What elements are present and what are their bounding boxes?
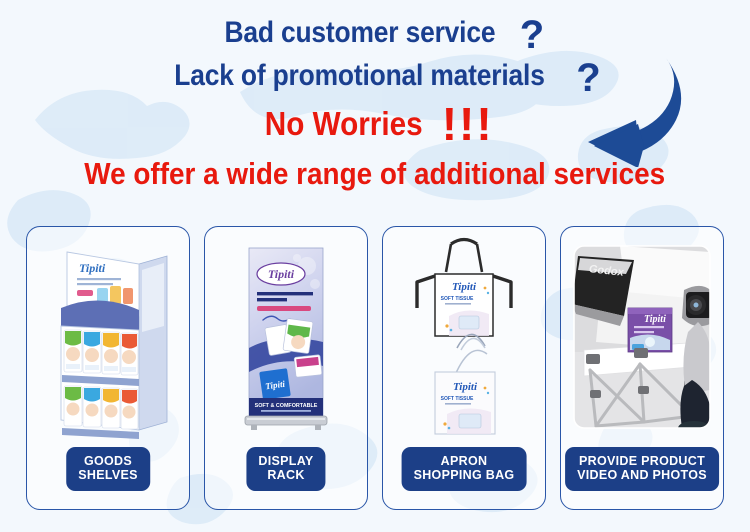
card-label-line-1: PROVIDE PRODUCT <box>577 454 707 469</box>
card-label-line-2: SHOPPING BAG <box>414 468 515 483</box>
svg-text:Tipiti: Tipiti <box>644 314 666 325</box>
card-label-line-1: APRON <box>414 454 515 469</box>
card-label-provide-product-video-and-photos: PROVIDE PRODUCT VIDEO AND PHOTOS <box>565 447 719 492</box>
card-label-goods-shelves: GOODS SHELVES <box>66 447 150 492</box>
headline-line-3: No Worries <box>265 106 423 142</box>
headline-line-4-row: We offer a wide range of additional serv… <box>0 150 750 190</box>
card-apron-shopping-bag[interactable]: Tipiti SOFT TISSUE Tipiti S <box>382 226 546 510</box>
headline-line-3-row: No Worries!!! <box>0 100 750 150</box>
photo-studio-artwork: Godox Tipiti <box>561 227 723 445</box>
svg-text:Tipiti: Tipiti <box>453 381 478 393</box>
promotional-banner: Bad customer service? Lack of promotiona… <box>0 0 750 532</box>
goods-shelves-artwork: Tipiti <box>27 227 189 445</box>
card-display-rack[interactable]: Tipiti <box>204 226 368 510</box>
question-mark-2: ? <box>576 57 600 100</box>
headline-line-2: Lack of promotional materials <box>175 60 545 92</box>
card-label-line-1: DISPLAY <box>258 454 313 469</box>
exclamation-marks: !!! <box>442 100 494 150</box>
card-goods-shelves[interactable]: Tipiti <box>26 226 190 510</box>
card-label-line-2: RACK <box>258 468 313 483</box>
service-cards-row: Tipiti <box>0 226 750 516</box>
svg-text:Tipiti: Tipiti <box>452 281 477 293</box>
question-mark-1: ? <box>520 14 544 57</box>
card-label-line-2: SHELVES <box>78 468 138 483</box>
display-rack-artwork: Tipiti <box>205 227 367 445</box>
headline-block: Bad customer service? Lack of promotiona… <box>0 0 750 191</box>
svg-text:Tipiti: Tipiti <box>268 267 295 281</box>
card-label-apron-shopping-bag: APRON SHOPPING BAG <box>402 447 527 492</box>
card-label-display-rack: DISPLAY RACK <box>246 447 325 492</box>
headline-line-1-row: Bad customer service? <box>0 14 750 57</box>
card-label-line-2: VIDEO AND PHOTOS <box>577 468 707 483</box>
headline-line-1: Bad customer service <box>224 17 495 49</box>
svg-text:SOFT TISSUE: SOFT TISSUE <box>441 296 474 302</box>
apron-shopping-bag-artwork: Tipiti SOFT TISSUE Tipiti S <box>383 227 545 445</box>
svg-text:Tipiti: Tipiti <box>79 261 106 275</box>
headline-line-2-row: Lack of promotional materials? <box>0 57 750 100</box>
headline-line-4: We offer a wide range of additional serv… <box>85 157 666 190</box>
svg-text:SOFT TISSUE: SOFT TISSUE <box>441 396 474 402</box>
svg-text:SOFT & COMFORTABLE: SOFT & COMFORTABLE <box>255 403 318 409</box>
card-label-line-1: GOODS <box>78 454 138 469</box>
card-provide-product-video-and-photos[interactable]: Godox Tipiti <box>560 226 724 510</box>
